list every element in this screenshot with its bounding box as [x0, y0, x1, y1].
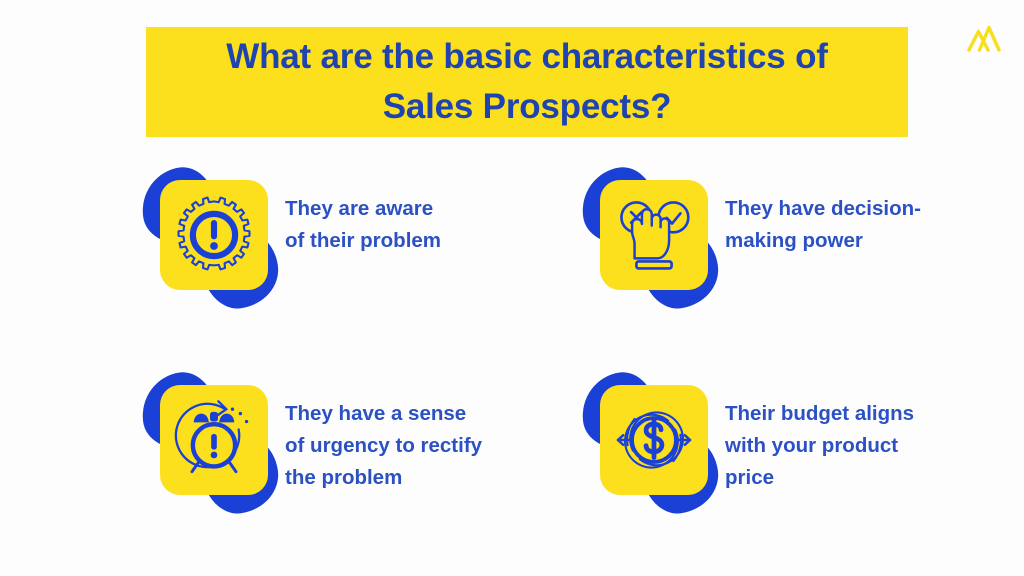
- icon-tile: [600, 180, 708, 290]
- alarm-clock-urgency-icon: [170, 396, 258, 484]
- card-caption-2: They have decision- making power: [725, 160, 921, 257]
- brand-logo: [966, 22, 1002, 56]
- icon-stack-3: [136, 365, 281, 510]
- caption-line: of their problem: [285, 225, 441, 257]
- gear-exclamation-icon: [170, 191, 258, 279]
- card-budget-aligns: Their budget aligns with your product pr…: [576, 365, 914, 510]
- caption-line: price: [725, 462, 914, 494]
- caption-line: They have a sense: [285, 398, 482, 430]
- hand-pointing-choice-icon: [610, 191, 698, 279]
- caption-line: They are aware: [285, 193, 441, 225]
- card-sense-of-urgency: They have a sense of urgency to rectify …: [136, 365, 482, 510]
- caption-line: They have decision-: [725, 193, 921, 225]
- card-aware-of-problem: They are aware of their problem: [136, 160, 441, 305]
- card-decision-making-power: They have decision- making power: [576, 160, 921, 305]
- caption-line: of urgency to rectify: [285, 430, 482, 462]
- page-title-line-1: What are the basic characteristics of: [226, 32, 827, 82]
- icon-stack-2: [576, 160, 721, 305]
- icon-tile: [600, 385, 708, 495]
- characteristics-grid: They are aware of their problem: [136, 160, 976, 520]
- icon-stack-4: [576, 365, 721, 510]
- card-caption-1: They are aware of their problem: [285, 160, 441, 257]
- caption-line: the problem: [285, 462, 482, 494]
- mountain-monogram-logo-icon: [966, 22, 1002, 56]
- caption-line: Their budget aligns: [725, 398, 914, 430]
- card-caption-3: They have a sense of urgency to rectify …: [285, 365, 482, 494]
- icon-stack-1: [136, 160, 281, 305]
- icon-tile: [160, 180, 268, 290]
- title-banner: What are the basic characteristics of Sa…: [146, 27, 908, 137]
- page-title-line-2: Sales Prospects?: [383, 82, 672, 132]
- icon-tile: [160, 385, 268, 495]
- caption-line: making power: [725, 225, 921, 257]
- dollar-arrows-budget-icon: [610, 396, 698, 484]
- caption-line: with your product: [725, 430, 914, 462]
- card-caption-4: Their budget aligns with your product pr…: [725, 365, 914, 494]
